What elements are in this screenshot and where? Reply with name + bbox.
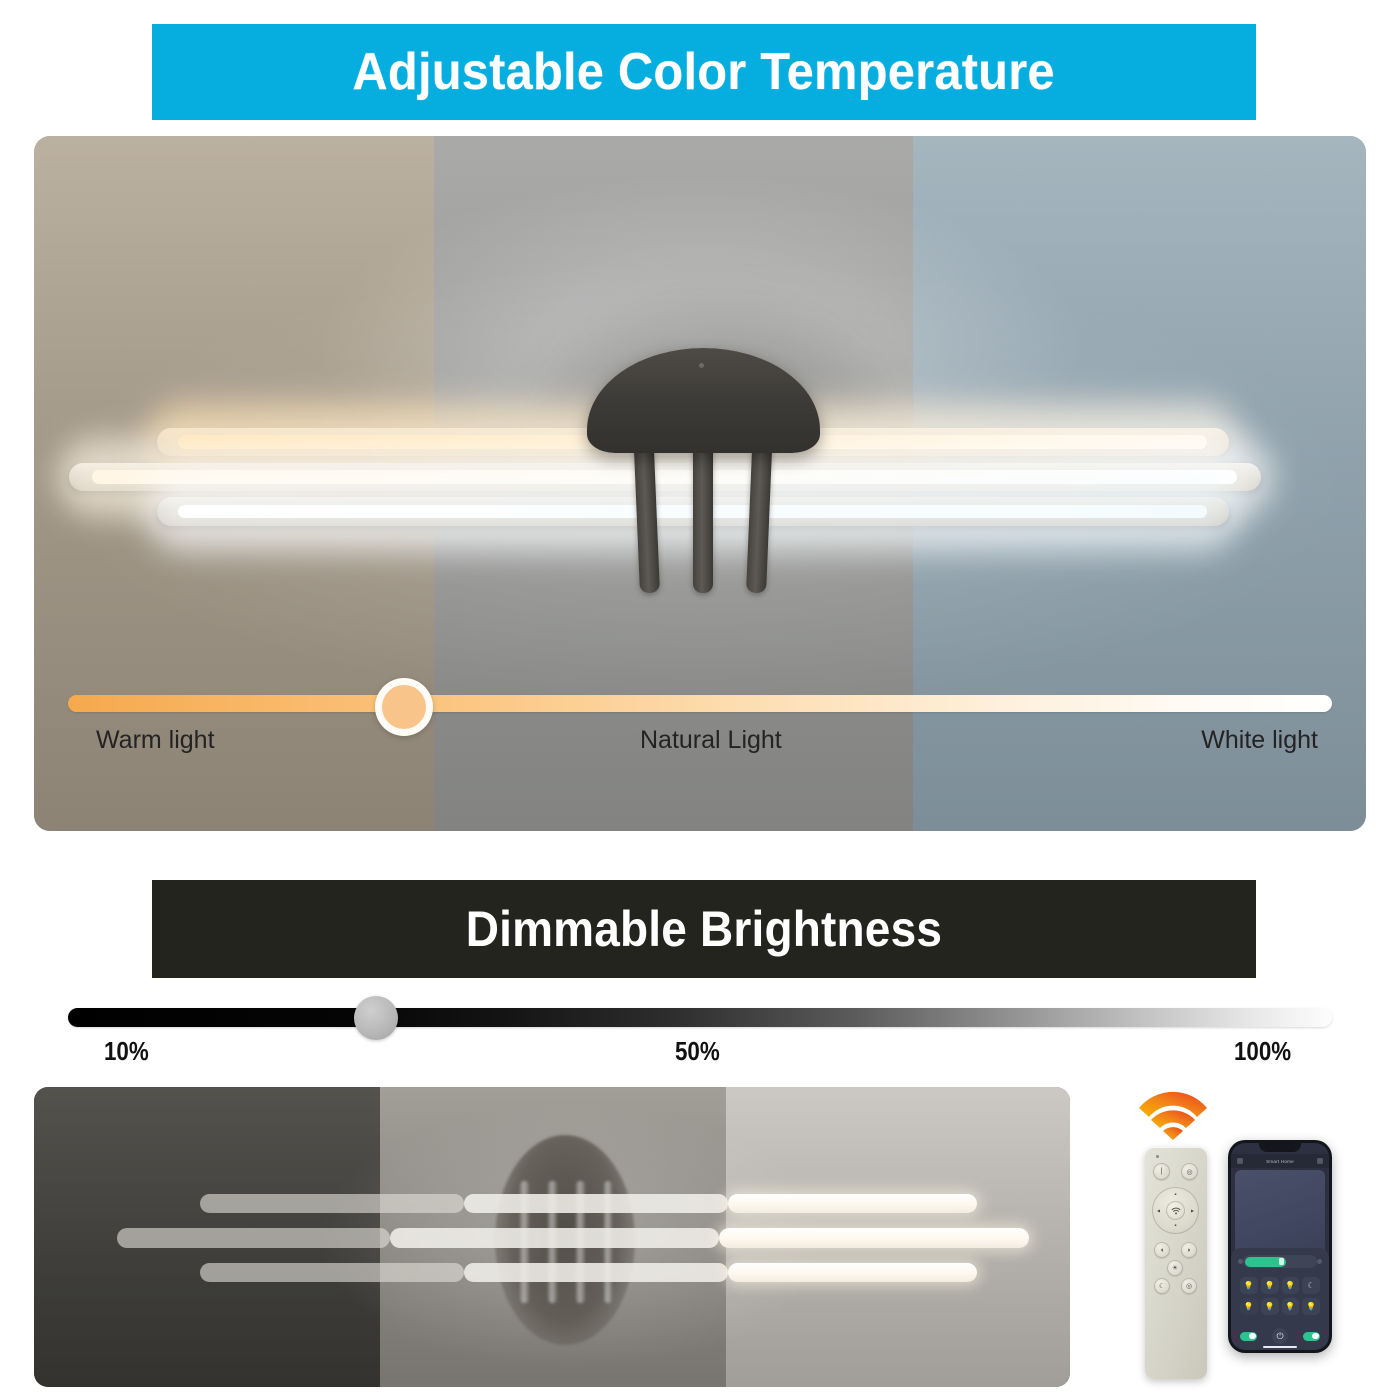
brightness-tube-bottom [200, 1263, 977, 1283]
toggle-left[interactable] [1240, 1332, 1257, 1341]
app-brightness-slider[interactable] [1243, 1255, 1317, 1268]
wifi-pair-button[interactable] [1166, 1201, 1185, 1220]
app-slider-knob[interactable] [1279, 1258, 1284, 1265]
product-feature-page: Adjustable Color Temperature [0, 0, 1400, 1400]
app-hero-card [1235, 1170, 1325, 1254]
notification-icon[interactable] [1317, 1158, 1323, 1164]
color-temperature-slider[interactable] [68, 690, 1332, 716]
moon-icon[interactable]: ☾ [1302, 1277, 1320, 1294]
brightness-high-icon [1317, 1259, 1322, 1264]
bulb-icon-3[interactable]: 💡 [1282, 1277, 1300, 1294]
brightness-button[interactable]: ☀ [1167, 1260, 1183, 1276]
warm-light-button[interactable]: ◖ [1154, 1242, 1170, 1258]
label-brightness-min: 10% [104, 1036, 149, 1067]
app-footer-controls: ⏻ [1231, 1326, 1329, 1346]
bulb-icon-5[interactable]: 💡 [1282, 1298, 1300, 1315]
mount-canopy [587, 348, 820, 453]
color-temperature-labels: Warm light Natural Light White light [34, 726, 1366, 760]
brightness-slider[interactable] [68, 1004, 1332, 1030]
tube-segment-dim [117, 1228, 391, 1248]
menu-icon[interactable] [1237, 1158, 1243, 1164]
tube-segment-dim [200, 1263, 464, 1283]
tube-segment-medium [390, 1228, 718, 1248]
tube-segment-dim [200, 1194, 464, 1214]
color-temperature-banner-title: Adjustable Color Temperature [353, 42, 1055, 102]
toggle-right[interactable] [1303, 1332, 1320, 1341]
app-header: Smart Home [1231, 1154, 1329, 1168]
brightness-tube-middle [117, 1228, 1029, 1248]
phone-screen[interactable]: Smart Home 💡 💡 💡 ☾ 💡 💡 [1231, 1143, 1329, 1350]
bulb-icon-4[interactable]: 💡 [1261, 1298, 1279, 1315]
timer-button[interactable]: ◎ [1181, 1278, 1197, 1294]
phone-notch [1259, 1143, 1301, 1152]
cool-light-button[interactable]: ◗ [1181, 1242, 1197, 1258]
brightness-tube-top [200, 1194, 977, 1214]
brightness-photo [34, 1087, 1070, 1387]
tube-segment-bright [728, 1263, 977, 1283]
remote-control[interactable]: | ◎ ▪ ▪ ◂ ▸ ◖ ◗ ☀ ☾ ◎ [1145, 1147, 1207, 1379]
bulb-icon-2[interactable]: 💡 [1261, 1277, 1279, 1294]
brightness-labels: 10% 50% 100% [34, 1036, 1366, 1068]
power-off-button[interactable]: ◎ [1181, 1163, 1198, 1180]
bulb-icon-6[interactable]: 💡 [1302, 1298, 1320, 1315]
remote-led-indicator [1156, 1155, 1159, 1158]
smartphone[interactable]: Smart Home 💡 💡 💡 ☾ 💡 💡 [1228, 1140, 1332, 1353]
power-on-button[interactable]: | [1153, 1163, 1170, 1180]
app-scene-grid: 💡 💡 💡 ☾ 💡 💡 💡 💡 [1237, 1277, 1323, 1315]
color-temperature-banner: Adjustable Color Temperature [152, 24, 1256, 120]
bulb-icon-off[interactable]: 💡 [1240, 1298, 1258, 1315]
tube-segment-medium [464, 1263, 728, 1283]
app-title: Smart Home [1266, 1159, 1294, 1164]
color-temperature-slider-track[interactable] [68, 695, 1332, 712]
tube-segment-bright [728, 1194, 977, 1214]
dpad-right-button[interactable]: ▸ [1191, 1207, 1194, 1214]
dpad-down-button[interactable]: ▪ [1174, 1223, 1176, 1229]
app-control-panel: 💡 💡 💡 ☾ 💡 💡 💡 💡 ⏻ [1231, 1248, 1329, 1350]
remote-dpad[interactable]: ▪ ▪ ◂ ▸ [1152, 1187, 1199, 1234]
brightness-slider-track[interactable] [68, 1008, 1332, 1027]
wifi-icon [1136, 1088, 1210, 1140]
ceiling-mount [587, 348, 820, 598]
label-natural-light: Natural Light [640, 726, 782, 755]
label-brightness-max: 100% [1234, 1036, 1291, 1067]
label-warm-light: Warm light [96, 726, 215, 755]
dpad-up-button[interactable]: ▪ [1174, 1192, 1176, 1198]
brightness-slider-thumb[interactable] [354, 996, 398, 1040]
label-white-light: White light [1201, 726, 1318, 755]
power-button[interactable]: ⏻ [1272, 1328, 1288, 1344]
dpad-left-button[interactable]: ◂ [1157, 1207, 1160, 1214]
brightness-low-icon [1238, 1259, 1243, 1264]
phone-home-indicator [1263, 1346, 1297, 1348]
label-brightness-mid: 50% [675, 1036, 720, 1067]
bulb-icon-1[interactable]: 💡 [1240, 1277, 1258, 1294]
dimmable-brightness-banner-title: Dimmable Brightness [466, 900, 942, 958]
dimmable-brightness-banner: Dimmable Brightness [152, 880, 1256, 978]
tube-segment-medium [464, 1194, 728, 1214]
night-mode-button[interactable]: ☾ [1154, 1278, 1170, 1294]
tube-segment-bright [719, 1228, 1029, 1248]
